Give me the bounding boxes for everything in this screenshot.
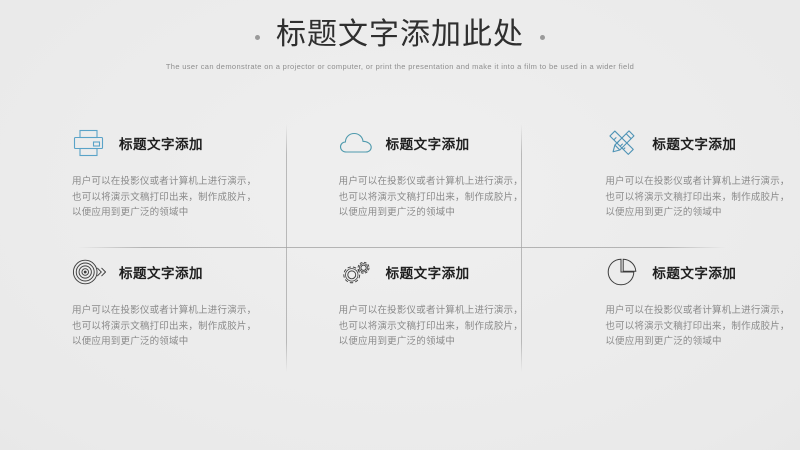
- title-row: 标题文字添加此处: [0, 18, 800, 52]
- feature-card-1[interactable]: 标题文字添加 用户可以在投影仪或者计算机上进行演示， 也可以将演示文稿打印出来，…: [0, 118, 267, 247]
- card-header: 标题文字添加: [605, 124, 774, 162]
- gears-icon: [339, 256, 373, 288]
- feature-card-6[interactable]: 标题文字添加 用户可以在投影仪或者计算机上进行演示， 也可以将演示文稿打印出来，…: [533, 247, 800, 376]
- card-header: 标题文字添加: [605, 253, 774, 291]
- cloud-icon: [339, 127, 373, 159]
- card-title: 标题文字添加: [119, 262, 203, 282]
- card-body-line: 也可以将演示文稿打印出来，制作成胶片，: [72, 190, 234, 206]
- card-body-line: 以便应用到更广泛的领域中: [339, 205, 501, 221]
- card-body-line: 也可以将演示文稿打印出来，制作成胶片，: [605, 190, 767, 206]
- card-body: 用户可以在投影仪或者计算机上进行演示， 也可以将演示文稿打印出来，制作成胶片， …: [72, 174, 234, 221]
- presentation-slide: 标题文字添加此处 The user can demonstrate on a p…: [0, 0, 800, 450]
- title-right-dot-icon: [540, 35, 545, 40]
- title-left-dot-icon: [255, 35, 260, 40]
- printer-icon: [72, 127, 106, 159]
- slide-header: 标题文字添加此处 The user can demonstrate on a p…: [0, 18, 800, 72]
- card-body-line: 以便应用到更广泛的领域中: [339, 334, 501, 350]
- card-header: 标题文字添加: [72, 253, 241, 291]
- card-title: 标题文字添加: [652, 262, 736, 282]
- card-body-line: 以便应用到更广泛的领域中: [72, 205, 234, 221]
- card-body: 用户可以在投影仪或者计算机上进行演示， 也可以将演示文稿打印出来，制作成胶片， …: [339, 303, 501, 350]
- feature-grid: 标题文字添加 用户可以在投影仪或者计算机上进行演示， 也可以将演示文稿打印出来，…: [0, 118, 800, 376]
- card-body-line: 以便应用到更广泛的领域中: [605, 334, 767, 350]
- card-body-line: 用户可以在投影仪或者计算机上进行演示，: [605, 174, 767, 190]
- card-body-line: 以便应用到更广泛的领域中: [72, 334, 234, 350]
- page-title: 标题文字添加此处: [276, 18, 524, 52]
- card-header: 标题文字添加: [339, 124, 508, 162]
- feature-card-4[interactable]: 标题文字添加 用户可以在投影仪或者计算机上进行演示， 也可以将演示文稿打印出来，…: [0, 247, 267, 376]
- card-body-line: 用户可以在投影仪或者计算机上进行演示，: [72, 174, 234, 190]
- card-title: 标题文字添加: [386, 133, 470, 153]
- card-body: 用户可以在投影仪或者计算机上进行演示， 也可以将演示文稿打印出来，制作成胶片， …: [605, 303, 767, 350]
- card-body-line: 也可以将演示文稿打印出来，制作成胶片，: [72, 319, 234, 335]
- card-header: 标题文字添加: [72, 124, 241, 162]
- card-body-line: 用户可以在投影仪或者计算机上进行演示，: [605, 303, 767, 319]
- card-body: 用户可以在投影仪或者计算机上进行演示， 也可以将演示文稿打印出来，制作成胶片， …: [605, 174, 767, 221]
- card-title: 标题文字添加: [386, 262, 470, 282]
- card-title: 标题文字添加: [652, 133, 736, 153]
- card-header: 标题文字添加: [339, 253, 508, 291]
- card-body-line: 也可以将演示文稿打印出来，制作成胶片，: [339, 190, 501, 206]
- feature-card-3[interactable]: 标题文字添加 用户可以在投影仪或者计算机上进行演示， 也可以将演示文稿打印出来，…: [533, 118, 800, 247]
- card-body-line: 用户可以在投影仪或者计算机上进行演示，: [339, 174, 501, 190]
- card-body: 用户可以在投影仪或者计算机上进行演示， 也可以将演示文稿打印出来，制作成胶片， …: [339, 174, 501, 221]
- pencil-ruler-icon: [605, 127, 639, 159]
- page-subtitle: The user can demonstrate on a projector …: [0, 62, 800, 72]
- card-body-line: 也可以将演示文稿打印出来，制作成胶片，: [605, 319, 767, 335]
- target-arrow-icon: [72, 256, 106, 288]
- feature-card-2[interactable]: 标题文字添加 用户可以在投影仪或者计算机上进行演示， 也可以将演示文稿打印出来，…: [267, 118, 534, 247]
- card-body-line: 用户可以在投影仪或者计算机上进行演示，: [72, 303, 234, 319]
- card-title: 标题文字添加: [119, 133, 203, 153]
- card-body: 用户可以在投影仪或者计算机上进行演示， 也可以将演示文稿打印出来，制作成胶片， …: [72, 303, 234, 350]
- card-body-line: 用户可以在投影仪或者计算机上进行演示，: [339, 303, 501, 319]
- pie-chart-icon: [605, 256, 639, 288]
- card-body-line: 也可以将演示文稿打印出来，制作成胶片，: [339, 319, 501, 335]
- card-body-line: 以便应用到更广泛的领域中: [605, 205, 767, 221]
- feature-card-5[interactable]: 标题文字添加 用户可以在投影仪或者计算机上进行演示， 也可以将演示文稿打印出来，…: [267, 247, 534, 376]
